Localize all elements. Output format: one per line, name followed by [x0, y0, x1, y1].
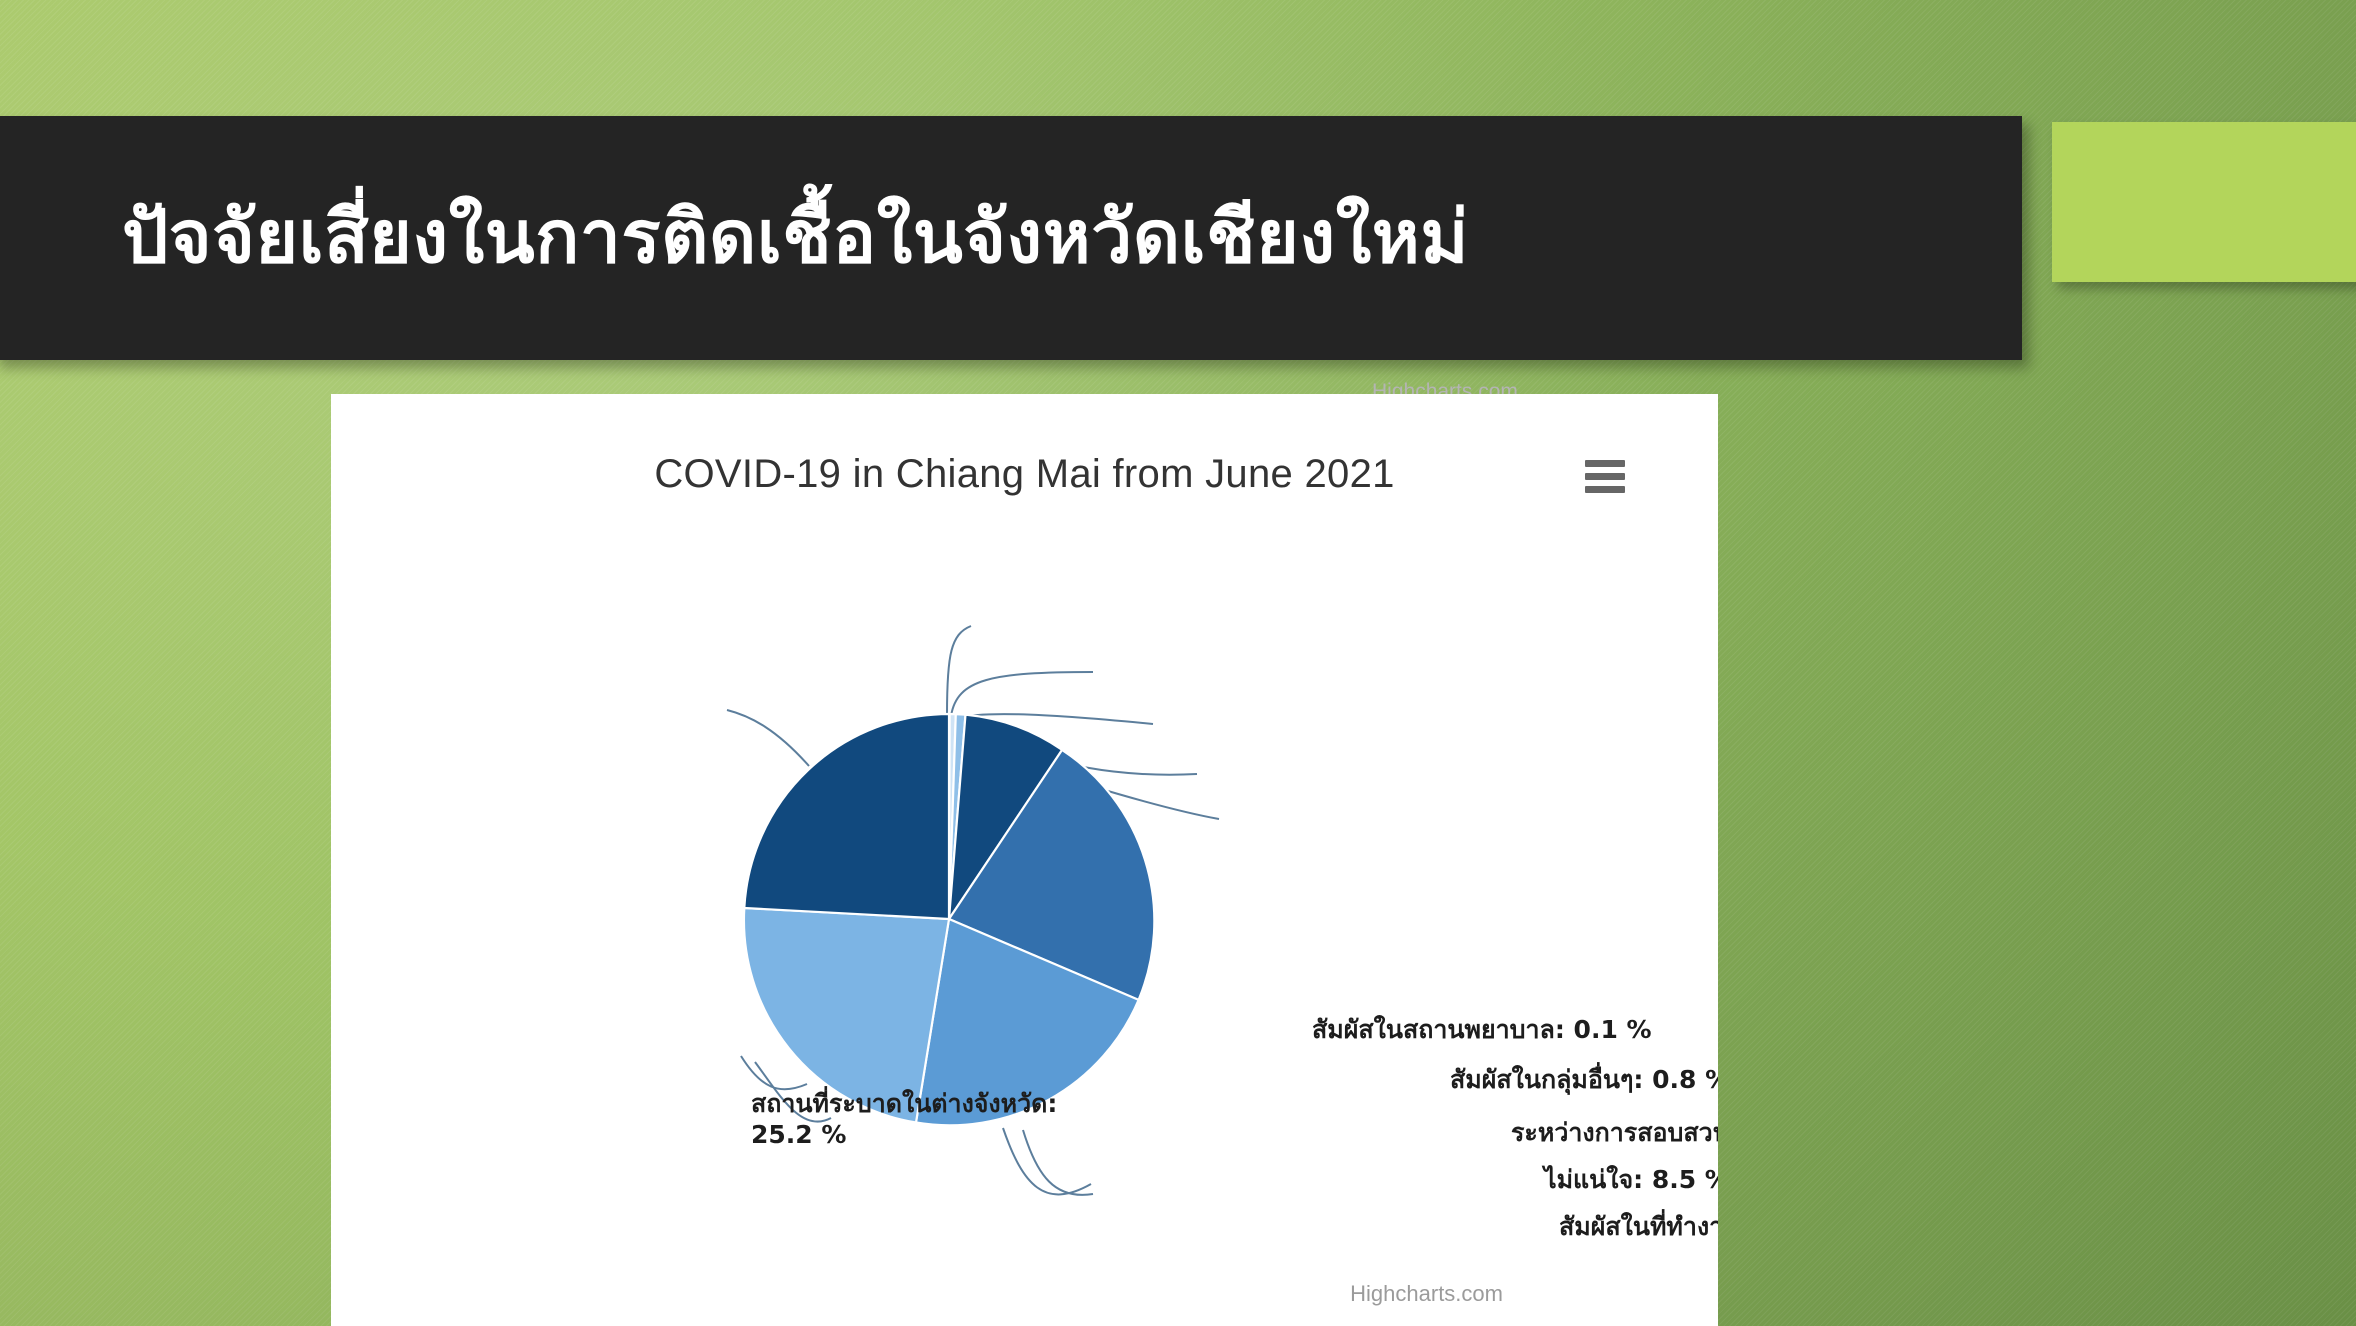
- highcharts-credit[interactable]: Highcharts.com: [1350, 1281, 1503, 1307]
- data-label-hospital: สัมผัสในสถานพยาบาล: 0.1 %: [1312, 1014, 1652, 1045]
- title-band: ปัจจัยเสี่ยงในการติดเชื้อในจังหวัดเชียงใ…: [0, 116, 2022, 360]
- slide-canvas: ปัจจัยเสี่ยงในการติดเชื้อในจังหวัดเชียงใ…: [0, 0, 2356, 1326]
- data-label-workplace: สัมผัสในที่ทำงาน: 20.1 %: [1559, 1211, 1718, 1242]
- chart-card: COVID-19 in Chiang Mai from June 2021: [331, 394, 1718, 1326]
- slide-title: ปัจจัยเสี่ยงในการติดเชื้อในจังหวัดเชียงใ…: [0, 200, 1469, 277]
- pie: [744, 714, 1154, 1124]
- pie-slice-province[interactable]: [744, 714, 949, 919]
- data-label-investigation: ระหว่างการสอบสวนโรค: 1.3 %: [1511, 1117, 1718, 1148]
- data-label-province: สถานที่ระบาดในต่างจังหวัด: 25.2 %: [751, 1088, 1081, 1151]
- pie-svg: [744, 714, 1154, 1124]
- pie-chart-area: สัมผัสในสถานพยาบาล: 0.1 % สัมผัสในกลุ่มอ…: [331, 394, 1718, 1326]
- data-label-unsure: ไม่แน่ใจ: 8.5 %: [1544, 1164, 1718, 1195]
- accent-block: [2052, 122, 2356, 282]
- data-label-other-group: สัมผัสในกลุ่มอื่นๆ: 0.8 %: [1450, 1064, 1718, 1095]
